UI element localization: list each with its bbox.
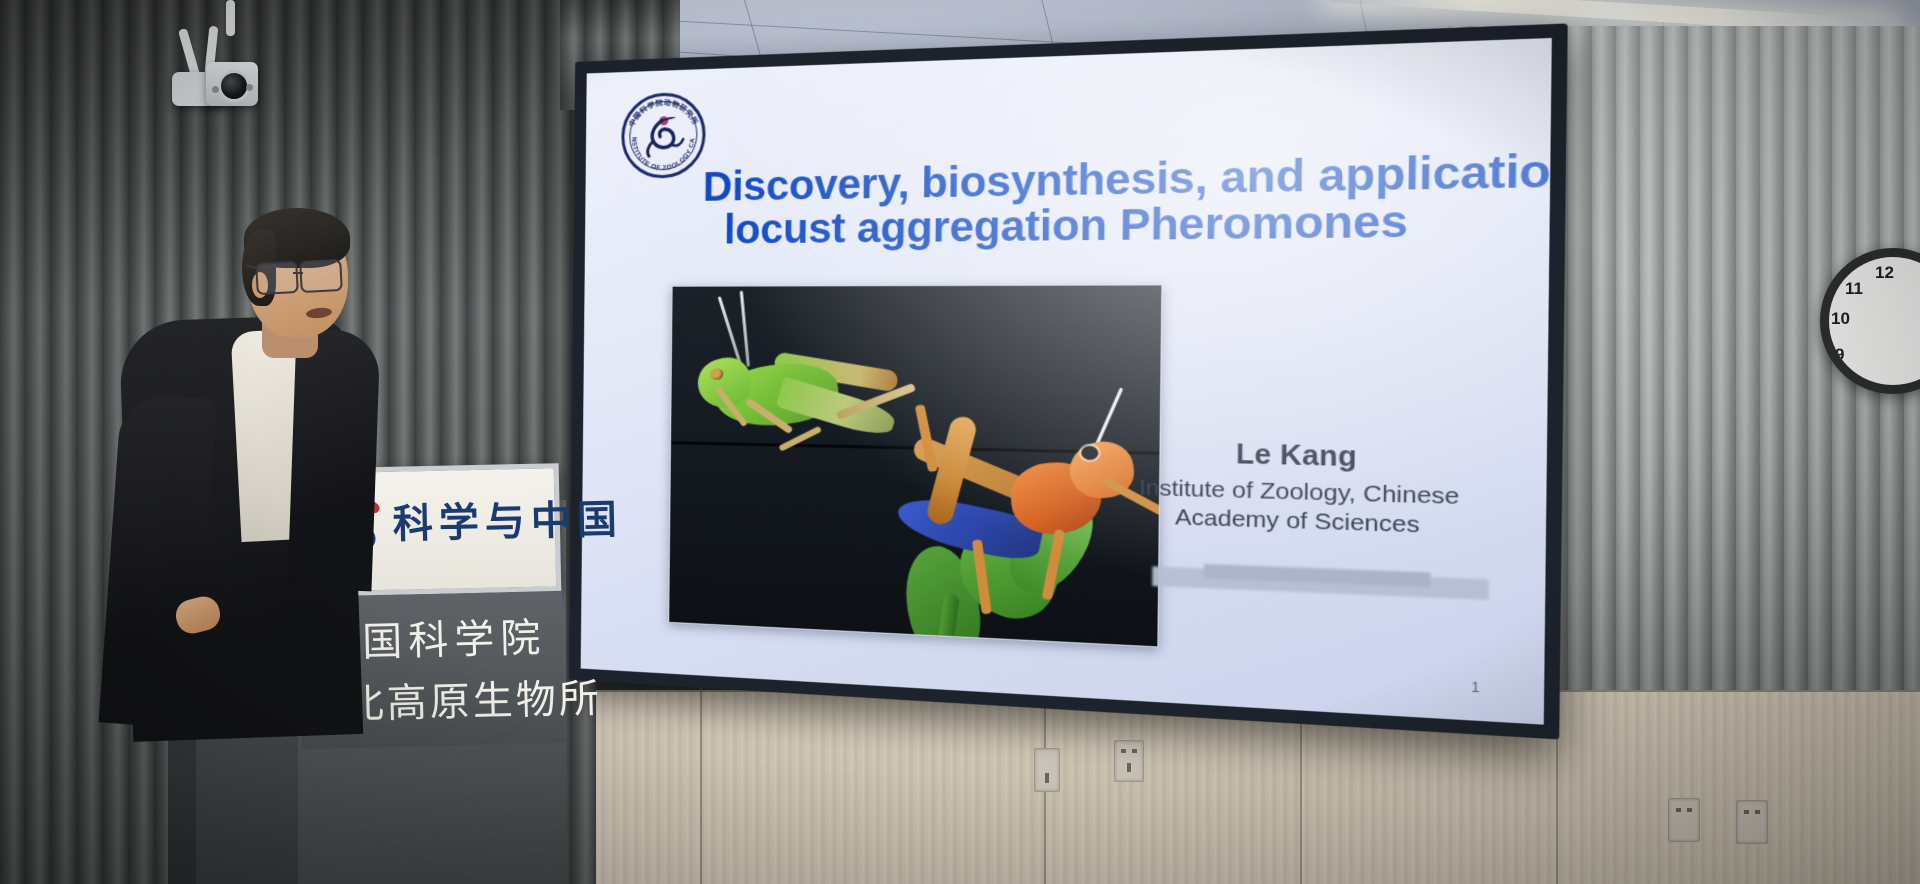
- projection-screen[interactable]: 中国科学院动物研究所 INSTITUTE OF ZOOLOGY CAS Disc…: [569, 23, 1568, 739]
- slide-surface[interactable]: 中国科学院动物研究所 INSTITUTE OF ZOOLOGY CAS Disc…: [581, 38, 1552, 725]
- crane-bird-icon: [640, 116, 686, 158]
- institute-logo: 中国科学院动物研究所 INSTITUTE OF ZOOLOGY CAS: [621, 92, 706, 179]
- locust-photo: [668, 284, 1162, 647]
- lecture-hall-scene: 12 11 10 9 中国科学院动物研究所 INSTITUTE OF ZOOLO…: [0, 0, 1920, 884]
- slide-title-line2: locust aggregation Pheromones: [702, 198, 1516, 252]
- slide-title: Discovery, biosynthesis, and application…: [702, 150, 1517, 252]
- affiliation-line2: Academy of Sciences: [1175, 504, 1420, 537]
- author-name: Le Kang: [1107, 436, 1495, 477]
- podium-sign-text: 科学与中国: [392, 487, 623, 550]
- clock-numeral-10: 10: [1831, 309, 1850, 329]
- power-socket-3[interactable]: [1736, 800, 1768, 844]
- power-socket-2[interactable]: [1668, 798, 1700, 842]
- clock-numeral-9: 9: [1835, 345, 1844, 365]
- author-affiliation: Institute of Zoology, Chinese Academy of…: [1107, 473, 1495, 541]
- power-socket-1[interactable]: [1114, 740, 1144, 782]
- slide-page-number: 1: [1471, 679, 1480, 695]
- light-switch[interactable]: [1034, 748, 1060, 792]
- clock-numeral-12: 12: [1875, 263, 1894, 283]
- clock-numeral-11: 11: [1845, 279, 1863, 299]
- author-block: Le Kang Institute of Zoology, Chinese Ac…: [1107, 436, 1496, 541]
